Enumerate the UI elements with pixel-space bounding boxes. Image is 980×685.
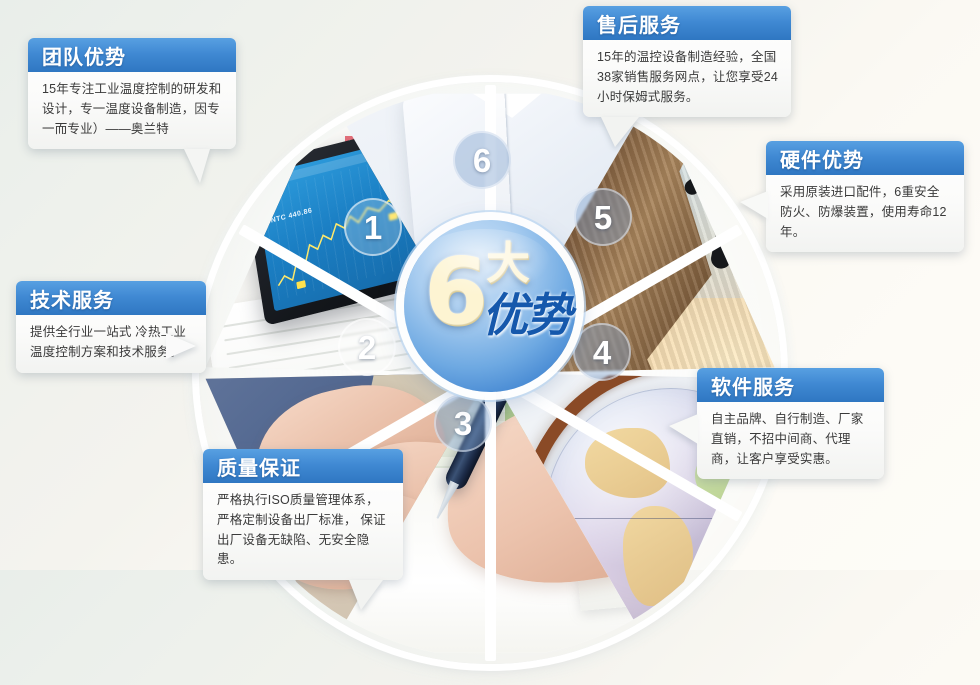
callout-hardware[interactable]: 硬件优势 采用原装进口配件，6重安全防火、防爆装置，使用寿命12年。 [766,141,964,252]
callout-tail [740,191,768,219]
callout-tail [601,117,639,147]
callout-software-body: 自主品牌、自行制造、厂家直销，不招中间商、代理商，让客户享受实惠。 [697,402,884,479]
callout-aftersales-body: 15年的温控设备制造经验，全国38家销售服务网点，让您享受24小时保姆式服务。 [583,40,791,117]
callout-tail [669,414,698,444]
callout-quality[interactable]: 质量保证 严格执行ISO质量管理体系，严格定制设备出厂标准， 保证出厂设备无缺陷… [203,449,403,580]
callout-aftersales[interactable]: 售后服务 15年的温控设备制造经验，全国38家销售服务网点，让您享受24小时保姆… [583,6,791,117]
callout-software[interactable]: 软件服务 自主品牌、自行制造、厂家直销，不招中间商、代理商，让客户享受实惠。 [697,368,884,479]
segment-number-2[interactable]: 2 [338,318,396,376]
center-number: 6 [424,246,488,338]
callout-team[interactable]: 团队优势 15年专注工业温度控制的研发和设计，专一温度设备制造，因专一而专业）—… [28,38,236,149]
segment-number-1[interactable]: 1 [344,198,402,256]
callout-tech[interactable]: 技术服务 提供全行业一站式 冷热工业温度控制方案和技术服务。 [16,281,206,373]
callout-tail [166,333,196,359]
callout-team-body: 15年专注工业温度控制的研发和设计，专一温度设备制造，因专一而专业）——奥兰特 [28,72,236,149]
callout-tech-title: 技术服务 [16,281,206,315]
callout-tail [184,149,210,183]
callout-team-title: 团队优势 [28,38,236,72]
callout-tail [349,580,383,610]
callout-hardware-body: 采用原装进口配件，6重安全防火、防爆装置，使用寿命12年。 [766,175,964,252]
center-badge: 6 大 优势 [404,220,576,392]
segment-number-4[interactable]: 4 [573,323,631,381]
callout-hardware-title: 硬件优势 [766,141,964,175]
center-word: 优势 [482,292,570,338]
center-unit: 大 [486,242,530,286]
segment-number-6[interactable]: 6 [453,131,511,189]
callout-aftersales-title: 售后服务 [583,6,791,40]
callout-software-title: 软件服务 [697,368,884,402]
callout-quality-body: 严格执行ISO质量管理体系，严格定制设备出厂标准， 保证出厂设备无缺陷、无安全隐… [203,483,403,580]
segment-number-3[interactable]: 3 [434,394,492,452]
callout-quality-title: 质量保证 [203,449,403,483]
segment-number-5[interactable]: 5 [574,188,632,246]
infographic-canvas: INTC 440.86 1 2 [0,0,980,570]
